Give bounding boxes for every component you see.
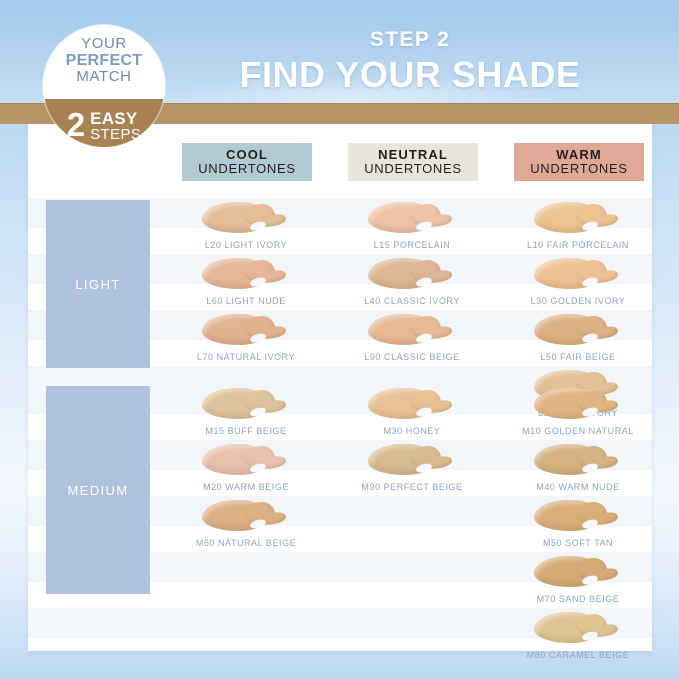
shade-name-label: L60 LIGHT NUDE (166, 296, 326, 306)
shade-cell[interactable]: L50 FAIR BEIGE (498, 312, 658, 362)
shade-name-label: M50 SOFT TAN (498, 538, 658, 548)
shade-cell[interactable]: L20 LIGHT IVORY (166, 200, 326, 250)
shade-name-label: L20 LIGHT IVORY (166, 240, 326, 250)
shade-name-label: M15 BUFF BEIGE (166, 426, 326, 436)
foundation-swatch-icon (364, 442, 460, 480)
foundation-swatch-icon (530, 256, 626, 294)
shade-cell[interactable]: M60 NATURAL BEIGE (166, 498, 326, 548)
shade-cell[interactable]: L90 CLASSIC BEIGE (332, 312, 492, 362)
badge-word-steps: STEPS (90, 127, 141, 142)
shade-name-label: M30 HONEY (332, 426, 492, 436)
shade-name-label: L90 CLASSIC BEIGE (332, 352, 492, 362)
foundation-swatch-icon (364, 256, 460, 294)
shade-name-label: L70 NATURAL IVORY (166, 352, 326, 362)
shade-name-label: M40 WARM NUDE (498, 482, 658, 492)
foundation-swatch-icon (364, 200, 460, 238)
shade-cell[interactable]: L10 FAIR PORCELAIN (498, 200, 658, 250)
shade-cell[interactable]: M10 GOLDEN NATURAL (498, 386, 658, 436)
shade-cell[interactable]: M50 SOFT TAN (498, 498, 658, 548)
your-perfect-match-badge: YOUR PERFECT MATCH 2 EASY STEPS (43, 25, 165, 147)
badge-steps-text: 2 EASY STEPS (43, 108, 165, 144)
shade-name-label: M20 WARM BEIGE (166, 482, 326, 492)
foundation-swatch-icon (530, 200, 626, 238)
foundation-swatch-icon (198, 498, 294, 536)
foundation-swatch-icon (364, 386, 460, 424)
shade-name-label: M60 NATURAL BEIGE (166, 538, 326, 548)
shade-name-label: L50 FAIR BEIGE (498, 352, 658, 362)
shade-cell[interactable]: M70 SAND BEIGE (498, 554, 658, 604)
foundation-swatch-icon (530, 610, 626, 648)
badge-step-words: EASY STEPS (90, 110, 141, 142)
shade-name-label: L10 FAIR PORCELAIN (498, 240, 658, 250)
shade-cell[interactable]: L70 NATURAL IVORY (166, 312, 326, 362)
badge-line-1: YOUR (43, 36, 165, 52)
shade-cell[interactable]: M90 PERFECT BEIGE (332, 442, 492, 492)
foundation-swatch-icon (364, 312, 460, 350)
foundation-swatch-icon (530, 442, 626, 480)
shade-name-label: L40 CLASSIC IVORY (332, 296, 492, 306)
badge-upper-text: YOUR PERFECT MATCH (43, 36, 165, 86)
foundation-swatch-icon (530, 386, 626, 424)
badge-line-2: PERFECT (43, 52, 165, 69)
shade-name-label: L15 PORCELAIN (332, 240, 492, 250)
shade-cell[interactable]: M30 HONEY (332, 386, 492, 436)
shade-name-label: M80 CARAMEL BEIGE (498, 650, 658, 660)
shade-name-label: L30 GOLDEN IVORY (498, 296, 658, 306)
badge-step-number: 2 (67, 108, 85, 144)
shade-cell[interactable]: L15 PORCELAIN (332, 200, 492, 250)
shade-name-label: M90 PERFECT BEIGE (332, 482, 492, 492)
shade-name-label: M70 SAND BEIGE (498, 594, 658, 604)
foundation-swatch-icon (198, 200, 294, 238)
badge-word-easy: EASY (90, 110, 141, 127)
shade-cell[interactable]: L40 CLASSIC IVORY (332, 256, 492, 306)
foundation-swatch-icon (198, 312, 294, 350)
foundation-swatch-icon (198, 442, 294, 480)
foundation-swatch-icon (530, 312, 626, 350)
shade-cell[interactable]: M40 WARM NUDE (498, 442, 658, 492)
shade-cell[interactable]: M80 CARAMEL BEIGE (498, 610, 658, 660)
foundation-swatch-icon (530, 498, 626, 536)
foundation-swatch-icon (198, 256, 294, 294)
foundation-swatch-icon (530, 554, 626, 592)
foundation-swatch-icon (198, 386, 294, 424)
badge-line-3: MATCH (43, 69, 165, 85)
shade-cell[interactable]: M15 BUFF BEIGE (166, 386, 326, 436)
shade-cell[interactable]: M20 WARM BEIGE (166, 442, 326, 492)
shade-cell[interactable]: L60 LIGHT NUDE (166, 256, 326, 306)
shade-cell[interactable]: L30 GOLDEN IVORY (498, 256, 658, 306)
shade-name-label: M10 GOLDEN NATURAL (498, 426, 658, 436)
